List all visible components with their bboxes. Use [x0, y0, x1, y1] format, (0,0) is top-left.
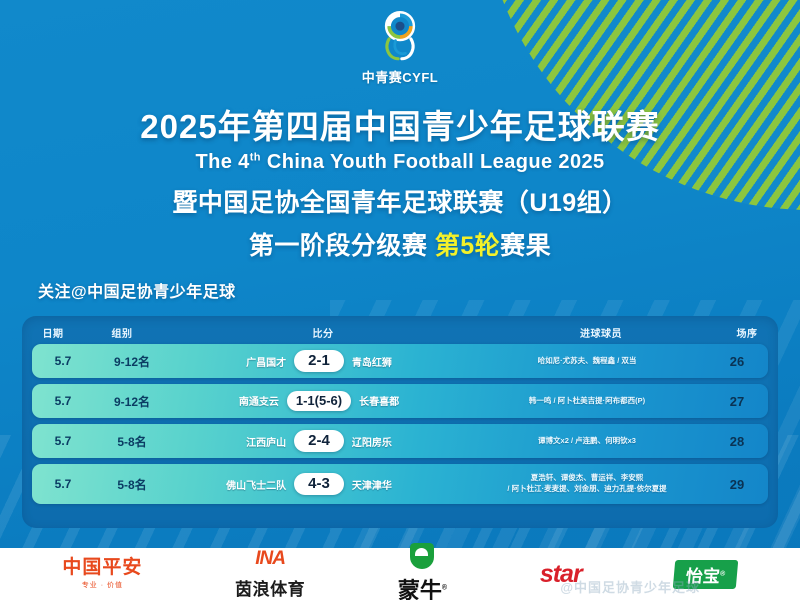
sponsor-mengniu-name: 蒙牛®: [398, 573, 447, 600]
cell-date: 5.7: [32, 354, 94, 368]
table-row[interactable]: 5.7 9-12名 南通支云 1-1(5-6) 长春喜都 韩一鸣 / 阿卜杜美吉…: [32, 384, 768, 418]
title-en-pre: The 4: [195, 151, 249, 173]
sponsor-mengniu-label: 蒙牛: [398, 578, 442, 600]
page-title-english: The 4th China Youth Football League 2025: [0, 151, 800, 174]
title-en-post: China Youth Football League 2025: [261, 151, 605, 173]
score-badge: 2-1: [294, 350, 344, 372]
cell-date: 5.7: [32, 477, 94, 491]
score-badge: 4-3: [294, 473, 344, 495]
sponsor-pingan-name: 中国平安: [62, 558, 142, 577]
scorers-line-2: / 阿卜杜江·麦麦提、刘金朋、迪力孔提·依尔夏提: [472, 484, 702, 495]
score-badge: 2-4: [294, 430, 344, 452]
home-team: 佛山飞士二队: [222, 477, 286, 492]
table-row[interactable]: 5.7 9-12名 广昌国才 2-1 青岛红狮 哈如尼·尤苏夫、魏程鑫 / 双当…: [32, 344, 768, 378]
home-team: 江西庐山: [222, 434, 286, 449]
away-team: 天津津华: [352, 477, 416, 492]
sponsor-mengniu: 蒙牛®: [398, 543, 447, 600]
column-header-group: 组别: [84, 325, 160, 340]
sponsor-yibao-name: 怡宝®: [673, 560, 739, 589]
cell-group: 9-12名: [94, 353, 170, 370]
home-team: 南通支云: [215, 393, 279, 408]
sponsor-yibao-label: 怡宝: [685, 567, 721, 586]
cell-date: 5.7: [32, 394, 94, 408]
cell-match: 南通支云 1-1(5-6) 长春喜都: [170, 391, 468, 411]
round-prefix: 第一阶段分级赛: [249, 232, 435, 260]
home-team: 广昌国才: [222, 354, 286, 369]
column-header-score: 比分: [160, 325, 486, 340]
sponsor-star-name: star: [540, 560, 582, 589]
title-block: 2025年第四届中国青少年足球联赛 The 4th China Youth Fo…: [0, 108, 800, 262]
sponsor-bar: 中国平安 专业 · 价值 INA 茵浪体育 蒙牛® star 怡宝®: [0, 548, 800, 600]
table-row[interactable]: 5.7 5-8名 佛山飞士二队 4-3 天津津华 夏浩轩、谭俊杰、曹运祥、李安熙…: [32, 464, 768, 504]
round-number-highlight: 第5轮: [435, 232, 500, 260]
follow-handle: 关注@中国足协青少年足球: [38, 278, 236, 302]
table-body: 5.7 9-12名 广昌国才 2-1 青岛红狮 哈如尼·尤苏夫、魏程鑫 / 双当…: [22, 344, 778, 504]
cell-scorers: 夏浩轩、谭俊杰、曹运祥、李安熙 / 阿卜杜江·麦麦提、刘金朋、迪力孔提·依尔夏提: [468, 473, 706, 495]
poster-root: 中青赛CYFL 2025年第四届中国青少年足球联赛 The 4th China …: [0, 0, 800, 600]
sponsor-yibao: 怡宝®: [674, 560, 737, 589]
away-team: 青岛红狮: [352, 354, 416, 369]
logo-text: 中青赛CYFL: [362, 67, 438, 86]
cell-order: 27: [706, 394, 768, 409]
cell-scorers: 谭博文x2 / 卢连鹏、何明钦x3: [468, 436, 706, 447]
away-team: 辽阳房乐: [352, 434, 416, 449]
cell-match: 佛山飞士二队 4-3 天津津华: [170, 473, 468, 495]
sponsor-mengniu-reg: ®: [442, 585, 447, 592]
page-title: 2025年第四届中国青少年足球联赛: [0, 108, 800, 146]
column-header-order: 场序: [716, 325, 778, 340]
title-en-ordinal: th: [250, 151, 261, 163]
sponsor-star: star: [540, 560, 582, 589]
cyfl-football-figure-logo-icon: [371, 8, 429, 66]
cell-order: 26: [706, 354, 768, 369]
cell-date: 5.7: [32, 434, 94, 448]
away-team: 长春喜都: [359, 393, 423, 408]
results-table: 日期 组别 比分 进球球员 场序 5.7 9-12名 广昌国才 2-1 青岛红狮…: [22, 316, 778, 528]
column-header-scorer: 进球球员: [486, 325, 716, 340]
table-header-row: 日期 组别 比分 进球球员 场序: [22, 316, 778, 344]
page-subtitle: 暨中国足协全国青年足球联赛（U19组）: [0, 183, 800, 219]
sponsor-ina-name: 茵浪体育: [235, 575, 305, 600]
cell-scorers: 韩一鸣 / 阿卜杜美吉提·阿布都西(P): [468, 396, 706, 407]
sponsor-yibao-reg: ®: [720, 570, 726, 577]
cell-order: 29: [706, 477, 768, 492]
sponsor-pingan: 中国平安 专业 · 价值: [62, 558, 142, 590]
table-row[interactable]: 5.7 5-8名 江西庐山 2-4 辽阳房乐 谭博文x2 / 卢连鹏、何明钦x3…: [32, 424, 768, 458]
cell-match: 广昌国才 2-1 青岛红狮: [170, 350, 468, 372]
cell-group: 5-8名: [94, 476, 170, 493]
sponsor-ina: INA 茵浪体育: [235, 548, 305, 600]
score-badge: 1-1(5-6): [287, 391, 351, 411]
cell-order: 28: [706, 434, 768, 449]
round-suffix: 赛果: [500, 232, 551, 260]
cell-group: 5-8名: [94, 433, 170, 450]
sponsor-ina-mark: INA: [255, 548, 285, 570]
cell-scorers: 哈如尼·尤苏夫、魏程鑫 / 双当: [468, 356, 706, 367]
scorers-line-1: 夏浩轩、谭俊杰、曹运祥、李安熙: [472, 473, 702, 484]
cell-match: 江西庐山 2-4 辽阳房乐: [170, 430, 468, 452]
sponsor-pingan-tagline: 专业 · 价值: [82, 580, 123, 590]
sponsor-mengniu-mark-icon: [410, 543, 434, 569]
league-logo: 中青赛CYFL: [0, 8, 800, 92]
round-label: 第一阶段分级赛 第5轮赛果: [0, 226, 800, 262]
cell-group: 9-12名: [94, 393, 170, 410]
column-header-date: 日期: [22, 325, 84, 340]
